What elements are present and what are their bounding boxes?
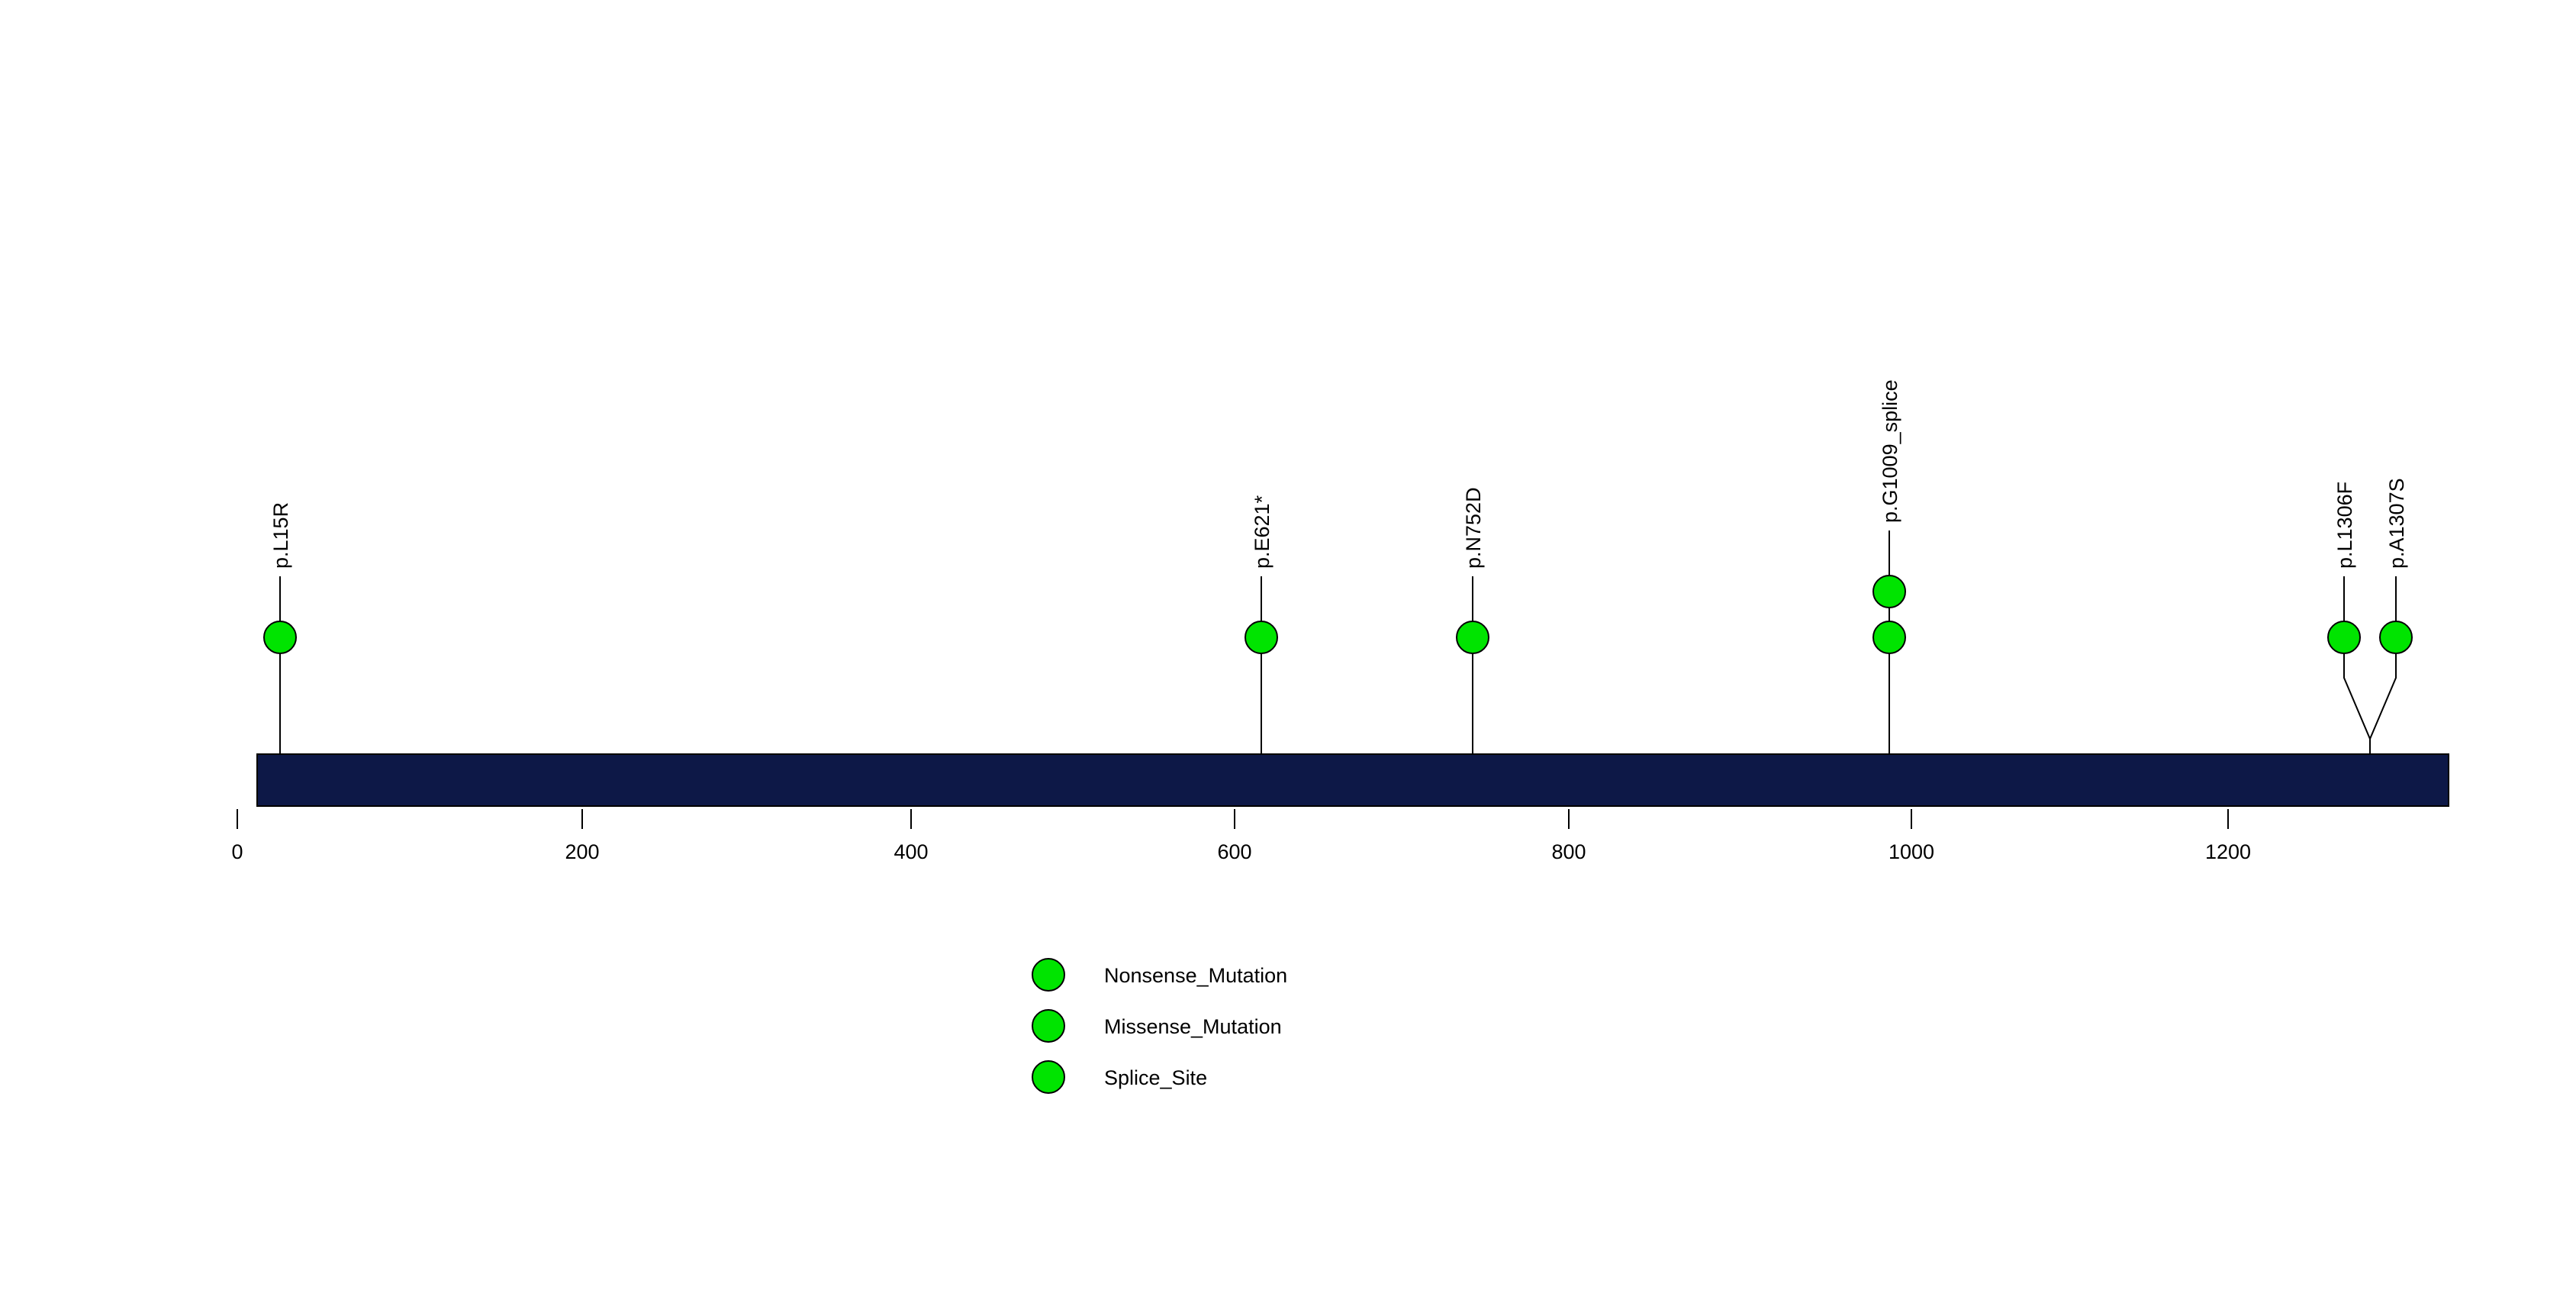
x-axis-tick-label: 0	[231, 840, 243, 863]
mutation-marker[interactable]	[2380, 621, 2412, 653]
mutation-marker[interactable]	[1873, 621, 1905, 653]
mutation-lollipop-plot: 020040060080010001200 p.L15Rp.E621*p.N75…	[0, 0, 2576, 1290]
legend-label: Nonsense_Mutation	[1104, 964, 1287, 987]
lollipop-plot-canvas: 020040060080010001200 p.L15Rp.E621*p.N75…	[0, 0, 2576, 1290]
legend-swatch	[1032, 1010, 1064, 1042]
mutation-label: p.L15R	[269, 502, 292, 569]
mutation-label: p.L1306F	[2333, 482, 2356, 569]
mutation-marker[interactable]	[2328, 621, 2360, 653]
mutation-label: p.A1307S	[2385, 478, 2408, 569]
legend-group: Nonsense_MutationMissense_MutationSplice…	[1032, 959, 1287, 1093]
x-axis-tick-label: 1200	[2205, 840, 2251, 863]
x-axis-tick-label: 600	[1217, 840, 1251, 863]
protein-bar-group	[257, 754, 2449, 806]
x-axis-tick-label: 1000	[1889, 840, 1934, 863]
x-axis-tick-label: 800	[1551, 840, 1586, 863]
lollipop-labels-group: p.L15Rp.E621*p.N752Dp.G1009_splicep.L130…	[269, 379, 2408, 569]
legend-label: Splice_Site	[1104, 1066, 1207, 1089]
x-axis-tick-label: 200	[565, 840, 599, 863]
mutation-marker[interactable]	[264, 621, 296, 653]
mutation-label: p.E621*	[1251, 495, 1274, 569]
x-axis-group: 020040060080010001200	[231, 809, 2251, 863]
mutation-label: p.G1009_splice	[1879, 379, 1901, 523]
protein-domain-bar	[257, 754, 2449, 806]
mutation-label: p.N752D	[1462, 487, 1485, 569]
x-axis-tick-label: 400	[894, 840, 928, 863]
legend-label: Missense_Mutation	[1104, 1015, 1282, 1038]
legend-swatch	[1032, 1061, 1064, 1093]
legend-swatch	[1032, 959, 1064, 991]
mutation-marker[interactable]	[1245, 621, 1277, 653]
lollipop-markers-group	[264, 576, 2412, 653]
mutation-marker[interactable]	[1873, 576, 1905, 608]
mutation-marker[interactable]	[1457, 621, 1489, 653]
